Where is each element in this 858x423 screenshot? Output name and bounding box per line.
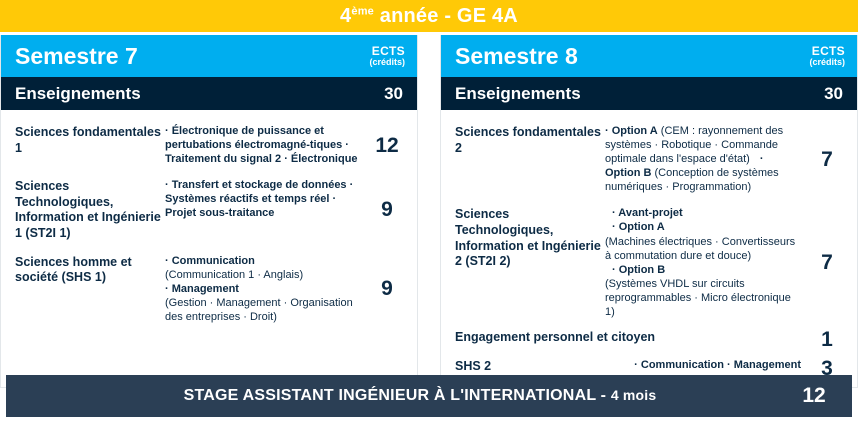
course-row: Sciences Technologiques, Information et … xyxy=(1,172,417,248)
year-number: 4 xyxy=(340,5,351,27)
course-credits: 7 xyxy=(807,149,847,170)
course-credits: 7 xyxy=(807,252,847,273)
teaching-bar-8: Enseignements 30 xyxy=(441,77,857,110)
course-detail-part: · Communication xyxy=(165,254,361,268)
course-detail-part: · Transfert et stockage de données · Sys… xyxy=(165,179,353,219)
ects-sublabel-7: (crédits) xyxy=(369,58,405,67)
ects-header-8: ECTS (crédits) xyxy=(809,45,845,67)
course-detail-part: · Management xyxy=(165,282,361,296)
teaching-bar-7: Enseignements 30 xyxy=(1,77,417,110)
course-rows-8: Sciences fondamentales 2 · Option A (CEM… xyxy=(441,110,857,387)
course-credits: 9 xyxy=(367,278,407,299)
course-row: Engagement personnel et citoyen 1 xyxy=(441,325,857,354)
course-detail-part: (Gestion · Management · Organisation des… xyxy=(165,296,361,324)
semester-title-8: Semestre 8 xyxy=(455,43,578,70)
course-row: Sciences Technologiques, Information et … xyxy=(441,200,857,325)
course-detail: · Transfert et stockage de données · Sys… xyxy=(165,178,367,220)
course-detail-part: (Systèmes VHDL sur circuits reprogrammab… xyxy=(605,277,801,319)
course-detail-part: (Machines électriques · Convertisseurs à… xyxy=(605,235,801,263)
course-title: Sciences homme et société (SHS 1) xyxy=(15,254,165,286)
course-title: SHS 2 xyxy=(455,358,605,375)
teaching-credits-8: 30 xyxy=(824,84,843,104)
semester-columns: Semestre 7 ECTS (crédits) Enseignements … xyxy=(0,32,858,388)
internship-title-text: STAGE ASSISTANT INGÉNIEUR À L'INTERNATIO… xyxy=(184,387,611,404)
year-banner: 4ème année - GE 4A xyxy=(0,0,858,32)
semester-panel-7: Semestre 7 ECTS (crédits) Enseignements … xyxy=(0,35,418,388)
year-rest: année - GE 4A xyxy=(374,5,518,27)
course-credits: 9 xyxy=(367,199,407,220)
course-detail: · Avant-projet · Option A (Machines élec… xyxy=(605,206,807,319)
semester-header-8: Semestre 8 ECTS (crédits) xyxy=(441,35,857,77)
course-detail-part: · Option A xyxy=(605,125,658,137)
ects-header-7: ECTS (crédits) xyxy=(369,45,405,67)
course-detail: · Électronique de puissance et pertubati… xyxy=(165,124,367,166)
course-rows-7: Sciences fondamentales 1 · Électronique … xyxy=(1,110,417,334)
teaching-label-8: Enseignements xyxy=(455,84,581,104)
ects-label-8: ECTS xyxy=(809,45,845,58)
internship-bar: STAGE ASSISTANT INGÉNIEUR À L'INTERNATIO… xyxy=(6,375,852,417)
course-detail-part: (Communication 1 · Anglais) xyxy=(165,268,361,282)
teaching-label-7: Enseignements xyxy=(15,84,141,104)
course-detail: · Option A (CEM : rayonnement des systèm… xyxy=(605,124,807,194)
internship-title: STAGE ASSISTANT INGÉNIEUR À L'INTERNATIO… xyxy=(6,387,794,405)
course-detail-part: · Électronique de puissance et pertubati… xyxy=(165,125,358,165)
course-row: Sciences fondamentales 1 · Électronique … xyxy=(1,118,417,172)
semester-title-7: Semestre 7 xyxy=(15,43,138,70)
semester-panel-8: Semestre 8 ECTS (crédits) Enseignements … xyxy=(440,35,858,388)
course-title: Engagement personnel et citoyen xyxy=(455,329,755,346)
course-row: Sciences homme et société (SHS 1) · Comm… xyxy=(1,248,417,330)
course-credits: 1 xyxy=(807,329,847,350)
course-row: Sciences fondamentales 2 · Option A (CEM… xyxy=(441,118,857,200)
teaching-credits-7: 30 xyxy=(384,84,403,104)
course-detail-part: · Option A xyxy=(605,220,801,234)
curriculum-sheet: 4ème année - GE 4A Semestre 7 ECTS (créd… xyxy=(0,0,858,423)
internship-duration: 4 mois xyxy=(611,387,657,403)
course-detail-part: · Option B xyxy=(605,263,801,277)
course-detail: · Communication (Communication 1 · Angla… xyxy=(165,254,367,324)
ects-sublabel-8: (crédits) xyxy=(809,58,845,67)
course-detail: · Communication · Management xyxy=(605,358,807,372)
course-credits: 12 xyxy=(367,135,407,156)
course-title: Sciences Technologiques, Information et … xyxy=(455,206,605,270)
ects-label-7: ECTS xyxy=(369,45,405,58)
course-title: Sciences Technologiques, Information et … xyxy=(15,178,165,242)
course-detail-part: · Avant-projet xyxy=(605,206,801,220)
course-title: Sciences fondamentales 1 xyxy=(15,124,165,156)
year-title: 4ème année - GE 4A xyxy=(340,5,518,28)
course-title: Sciences fondamentales 2 xyxy=(455,124,605,156)
semester-header-7: Semestre 7 ECTS (crédits) xyxy=(1,35,417,77)
internship-credits: 12 xyxy=(794,384,834,408)
year-ordinal: ème xyxy=(351,5,374,17)
